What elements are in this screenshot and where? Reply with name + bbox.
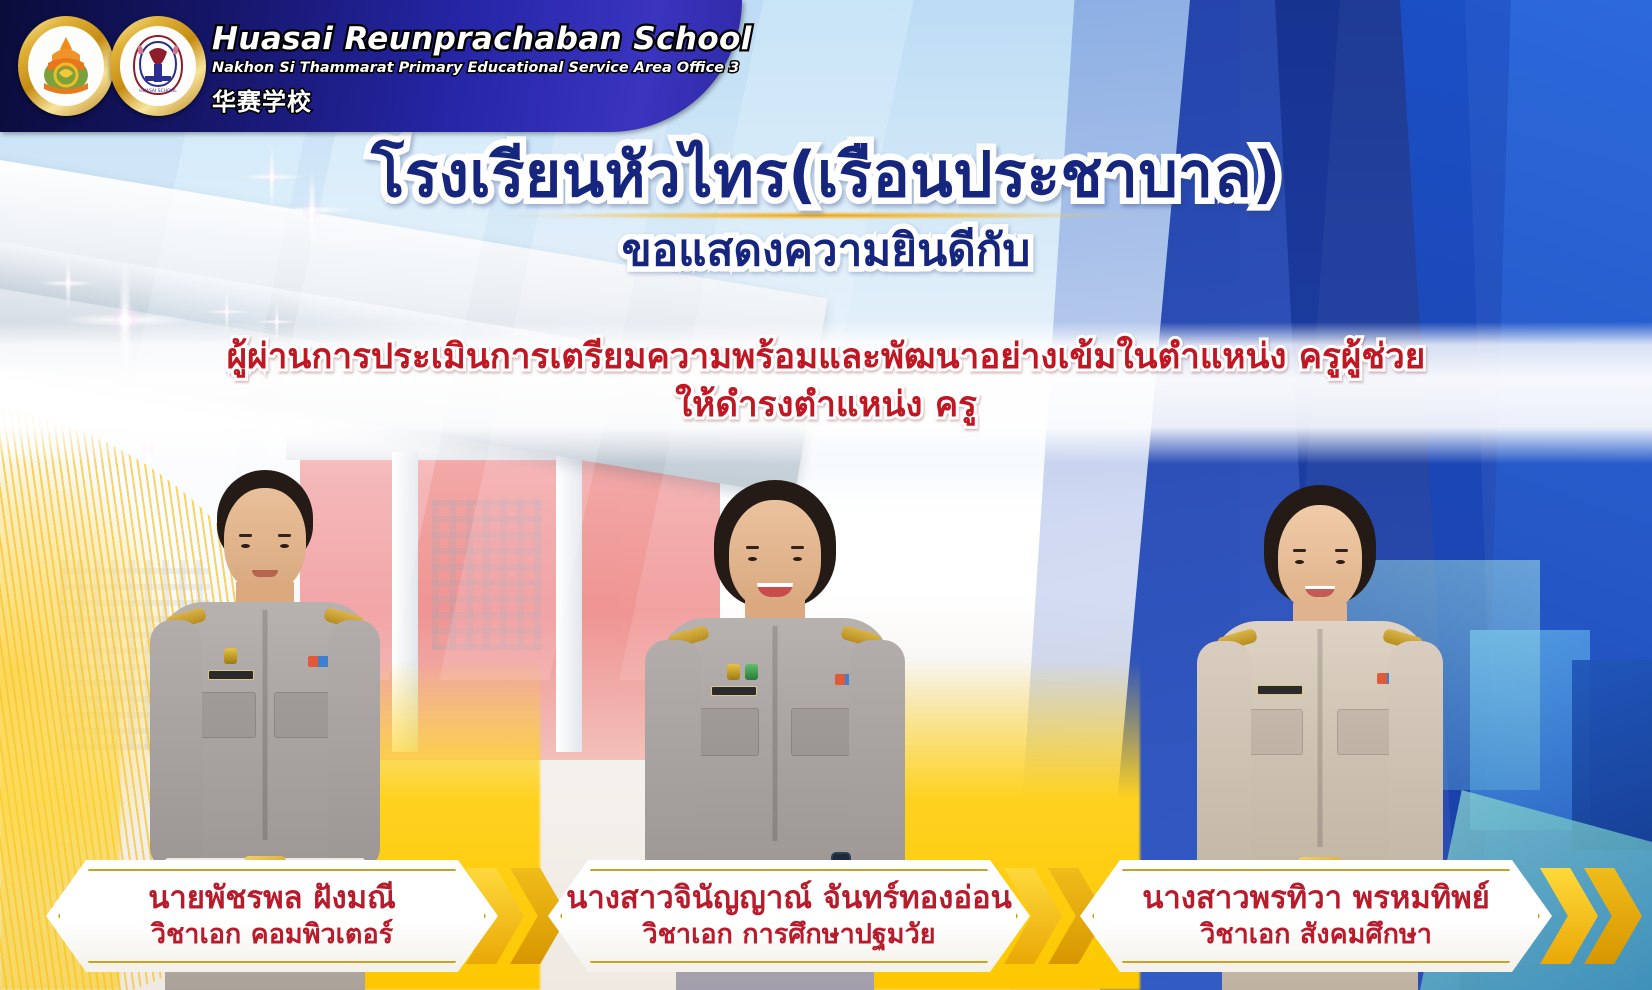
arm: [328, 620, 380, 870]
school-emblem: HUASAI SCHOOL: [110, 16, 206, 116]
rank-badge: [745, 664, 758, 680]
eye: [241, 544, 250, 548]
name-plate: [208, 670, 254, 680]
school-emblem-icon: HUASAI SCHOOL: [127, 32, 189, 100]
rank-badge: [727, 664, 740, 680]
building-window-grid: [432, 500, 542, 650]
arm: [849, 640, 905, 890]
congratulations-banner: HUASAI SCHOOL Huasai Reunprachaban Schoo…: [0, 0, 1652, 990]
honoree-name-2: นางสาวจินัญญาณ์ จันทร์ทองอ่อน: [566, 880, 1012, 917]
eyebrow: [278, 534, 291, 537]
title-block: โรงเรียนหัวไทร(เรือนประชาบาล) ขอแสดงความ…: [0, 140, 1652, 277]
svg-text:HUASAI SCHOOL: HUASAI SCHOOL: [139, 88, 177, 94]
eyebrow: [1335, 549, 1348, 552]
eye: [280, 544, 289, 548]
eye: [748, 557, 757, 561]
eyebrow: [239, 534, 252, 537]
school-office-line: Nakhon Si Thammarat Primary Educational …: [212, 60, 752, 76]
arm: [1389, 641, 1443, 885]
honoree-name-3: นางสาวพรทิวา พรหมทิพย์: [1142, 880, 1490, 917]
header-text-block: Huasai Reunprachaban School Nakhon Si Th…: [212, 24, 752, 117]
arm: [150, 620, 202, 870]
shirt-pocket: [274, 692, 332, 738]
plaque-text: นางสาวพรทิวา พรหมทิพย์ วิชาเอก สังคมศึกษ…: [1116, 880, 1516, 952]
arm: [645, 640, 701, 890]
eyebrow: [1293, 549, 1306, 552]
shirt-placket: [263, 610, 268, 840]
congratulations-line: ขอแสดงความยินดีกับ: [0, 226, 1652, 277]
school-emblem-inner: HUASAI SCHOOL: [120, 26, 196, 106]
award-line-1: ผู้ผ่านการประเมินการเตรียมความพร้อมและพั…: [0, 336, 1652, 380]
honoree-name-1: นายพัชรพล ฝังมณี: [148, 880, 396, 917]
shirt-placket: [1318, 629, 1323, 847]
award-description-block: ผู้ผ่านการประเมินการเตรียมความพร้อมและพั…: [0, 336, 1652, 428]
shirt-pocket: [1337, 709, 1395, 755]
school-name-cn: 华赛学校: [212, 82, 752, 117]
shirt-pocket: [791, 708, 853, 756]
eyebrow: [746, 546, 759, 549]
shirt-pocket: [198, 692, 256, 738]
shirt-placket: [773, 626, 778, 841]
mouth: [252, 570, 278, 577]
shirt-pocket: [1245, 709, 1303, 755]
honoree-major-3: วิชาเอก สังคมศึกษา: [1142, 918, 1490, 952]
eyebrow: [791, 546, 804, 549]
honoree-major-2: วิชาเอก การศึกษาปฐมวัย: [566, 918, 1012, 952]
name-plate: [711, 686, 757, 696]
honoree-plaque-3: นางสาวพรทิวา พรหมทิพย์ วิชาเอก สังคมศึกษ…: [1080, 860, 1552, 972]
ministry-emblem-icon: [36, 33, 96, 99]
honoree-major-1: วิชาเอก คอมพิวเตอร์: [148, 918, 396, 952]
eye: [793, 557, 802, 561]
shirt-pocket: [697, 708, 759, 756]
ministry-emblem: [18, 16, 114, 116]
school-header-bar: HUASAI SCHOOL Huasai Reunprachaban Schoo…: [0, 0, 742, 132]
rank-badge: [224, 648, 237, 664]
eye: [1295, 560, 1304, 564]
eye: [1336, 560, 1345, 564]
arm: [1197, 641, 1251, 885]
plaque-text: นางสาวจินัญญาณ์ จันทร์ทองอ่อน วิชาเอก กา…: [540, 880, 1038, 952]
honoree-plaque-1: นายพัชรพล ฝังมณี วิชาเอก คอมพิวเตอร์: [46, 860, 498, 972]
ministry-emblem-inner: [28, 26, 104, 106]
award-line-2: ให้ดำรงตำแหน่ง ครู: [0, 384, 1652, 428]
name-plate: [1257, 685, 1303, 695]
plaque-text: นายพัชรพล ฝังมณี วิชาเอก คอมพิวเตอร์: [122, 880, 422, 952]
school-name-en: Huasai Reunprachaban School: [212, 24, 752, 55]
school-name-th: โรงเรียนหัวไทร(เรือนประชาบาล): [0, 140, 1652, 209]
honoree-plaque-2: นางสาวจินัญญาณ์ จันทร์ทองอ่อน วิชาเอก กา…: [548, 860, 1030, 972]
gold-divider: [476, 211, 1176, 220]
